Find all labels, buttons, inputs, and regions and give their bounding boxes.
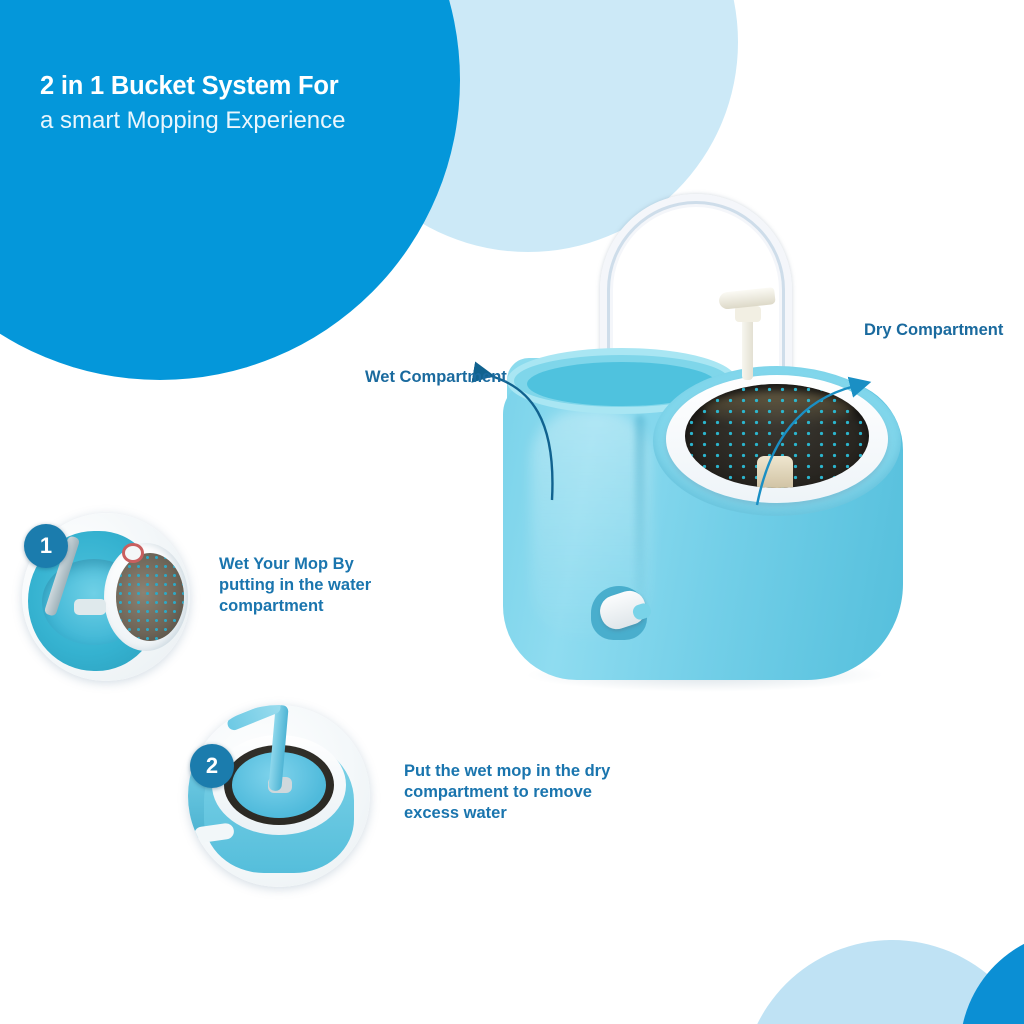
step-2-photo-background (188, 705, 370, 887)
step-1-number: 1 (40, 533, 52, 559)
step-2-photo (188, 705, 370, 887)
bucket-body-crease (635, 415, 645, 615)
header-block: 2 in 1 Bucket System For a smart Mopping… (40, 72, 470, 137)
step-1-rod-fitting (74, 599, 106, 615)
step-1-basket-perforations (116, 553, 184, 641)
page-title-bold: 2 in 1 Bucket System For (40, 72, 470, 102)
label-dry-compartment-text: Dry Compartment (864, 321, 1003, 339)
infographic-canvas: 2 in 1 Bucket System For a smart Mopping… (0, 0, 1024, 1024)
step-2-number: 2 (206, 753, 218, 779)
step-1-basket-interior (116, 553, 184, 641)
step-2-number-badge: 2 (190, 744, 234, 788)
page-title-light: a smart Mopping Experience (40, 105, 470, 137)
product-image-spin-mop-bucket (495, 190, 915, 700)
soap-pump-collar (735, 306, 761, 322)
label-wet-compartment-text: Wet Compartment (365, 368, 507, 386)
step-1-description: Wet Your Mop By putting in the water com… (219, 554, 394, 617)
header-brand-circle-decor (0, 0, 460, 380)
footer-light-circle-decor (742, 940, 1024, 1024)
basket-center-hub (757, 456, 793, 488)
step-2-description: Put the wet mop in the dry compartment t… (404, 761, 634, 824)
step-1-number-badge: 1 (24, 524, 68, 568)
footer-brand-circle-decor (960, 930, 1024, 1024)
dry-compartment-spin-basket (685, 384, 869, 488)
label-dry-compartment: Dry Compartment (864, 320, 1003, 341)
step-1-knob (122, 543, 144, 563)
label-wet-compartment: Wet Compartment (365, 367, 507, 388)
